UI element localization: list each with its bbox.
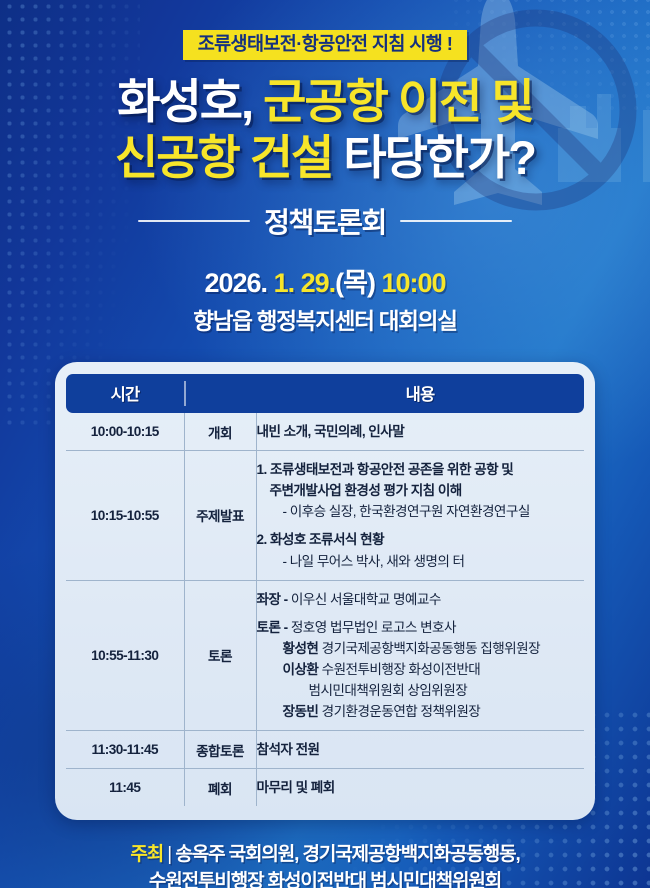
cell-content: 1. 조류생태보전과 항공안전 공존을 위한 공항 및주변개발사업 환경성 평가… xyxy=(256,451,584,580)
content-text: 참석자 전원 xyxy=(257,742,320,757)
content-text: 2. 화성호 조류서식 현황 xyxy=(257,532,385,547)
cell-time: 11:30-11:45 xyxy=(66,730,184,768)
footer-line-2: 수원전투비행장 화성이전반대 범시민대책위원회 xyxy=(0,869,650,888)
poster-header: 조류생태보전·항공안전 지침 시행 ! 화성호, 군공항 이전 및 신공항 건설… xyxy=(0,0,650,336)
title-line2-white: 타당한가? xyxy=(343,131,535,184)
poster-root: 조류생태보전·항공안전 지침 시행 ! 화성호, 군공항 이전 및 신공항 건설… xyxy=(0,0,650,888)
content-line: 황성현 경기국제공항백지화공동행동 집행위원장 xyxy=(257,638,585,659)
schedule-table: 시간 내용 10:00-10:15개회내빈 소개, 국민의례, 인사말10:15… xyxy=(66,374,584,806)
column-header-content: 내용 xyxy=(256,374,584,413)
content-text: 이우신 서울대학교 명예교수 xyxy=(291,592,441,607)
cell-time: 10:00-10:15 xyxy=(66,413,184,451)
footer-separator: | xyxy=(167,844,171,865)
column-header-spacer xyxy=(184,374,256,413)
table-row: 10:15-10:55주제발표1. 조류생태보전과 항공안전 공존을 위한 공항… xyxy=(66,451,584,580)
content-text: 마무리 및 폐회 xyxy=(257,780,335,795)
content-line: 마무리 및 폐회 xyxy=(257,777,585,798)
title-line1-white: 화성호, xyxy=(117,75,252,128)
cell-session-type: 개회 xyxy=(184,413,256,451)
line-spacer xyxy=(257,610,585,617)
column-header-time: 시간 xyxy=(66,374,184,413)
table-row: 10:00-10:15개회내빈 소개, 국민의례, 인사말 xyxy=(66,413,584,451)
content-role-label: 좌장 - xyxy=(257,592,291,607)
cell-session-type: 주제발표 xyxy=(184,451,256,580)
cell-session-type: 폐회 xyxy=(184,769,256,807)
event-venue: 향남읍 행정복지센터 대회의실 xyxy=(0,304,650,336)
table-row: 11:45폐회마무리 및 폐회 xyxy=(66,769,584,807)
content-text: 1. 조류생태보전과 항공안전 공존을 위한 공항 및 xyxy=(257,462,514,477)
content-line: 토론 - 정호영 법무법인 로고스 변호사 xyxy=(257,617,585,638)
page-title: 화성호, 군공항 이전 및 신공항 건설 타당한가? xyxy=(0,74,650,188)
line-spacer xyxy=(257,522,585,529)
cell-content: 참석자 전원 xyxy=(256,730,584,768)
content-line: 내빈 소개, 국민의례, 인사말 xyxy=(257,421,585,442)
event-time: 10:00 xyxy=(381,268,445,298)
table-header-row: 시간 내용 xyxy=(66,374,584,413)
host-label: 주최 xyxy=(130,844,163,865)
content-text: 내빈 소개, 국민의례, 인사말 xyxy=(257,424,405,439)
footer-organizers-1: 송옥주 국회의원, 경기국제공항백지화공동행동, xyxy=(175,844,519,865)
date-monthday: 1. 29. xyxy=(274,268,336,298)
organizer-footer: 주최 | 송옥주 국회의원, 경기국제공항백지화공동행동, 수원전투비행장 화성… xyxy=(0,842,650,888)
schedule-card: 시간 내용 10:00-10:15개회내빈 소개, 국민의례, 인사말10:15… xyxy=(55,362,595,820)
content-line: - 나일 무어스 박사, 새와 생명의 터 xyxy=(257,551,585,572)
content-text: 수원전투비행장 화성이전반대 xyxy=(322,662,481,677)
content-text: - 나일 무어스 박사, 새와 생명의 터 xyxy=(283,554,465,569)
content-text: 경기환경운동연합 정책위원장 xyxy=(322,704,481,719)
cell-time: 10:55-11:30 xyxy=(66,580,184,730)
cell-time: 10:15-10:55 xyxy=(66,451,184,580)
content-line: 참석자 전원 xyxy=(257,739,585,760)
content-line: 범시민대책위원회 상임위원장 xyxy=(257,680,585,701)
title-line2-yellow: 신공항 건설 xyxy=(115,131,332,184)
footer-line-1: 주최 | 송옥주 국회의원, 경기국제공항백지화공동행동, xyxy=(0,842,650,869)
cell-time: 11:45 xyxy=(66,769,184,807)
content-role-label: 토론 - xyxy=(257,620,291,635)
title-line-2: 신공항 건설 타당한가? xyxy=(0,130,650,187)
cell-content: 좌장 - 이우신 서울대학교 명예교수토론 - 정호영 법무법인 로고스 변호사… xyxy=(256,580,584,730)
content-line: 좌장 - 이우신 서울대학교 명예교수 xyxy=(257,589,585,610)
content-line: 1. 조류생태보전과 항공안전 공존을 위한 공항 및 xyxy=(257,459,585,480)
content-line: - 이후승 실장, 한국환경연구원 자연환경연구실 xyxy=(257,501,585,522)
panelist-name: 이상환 xyxy=(283,662,322,677)
table-row: 10:55-11:30토론좌장 - 이우신 서울대학교 명예교수토론 - 정호영… xyxy=(66,580,584,730)
content-text: 주변개발사업 환경성 평가 지침 이해 xyxy=(270,483,462,498)
schedule-table-head: 시간 내용 xyxy=(66,374,584,413)
content-text: 경기국제공항백지화공동행동 집행위원장 xyxy=(322,641,540,656)
rule-right xyxy=(400,220,512,222)
kicker-banner: 조류생태보전·항공안전 지침 시행 ! xyxy=(183,30,468,60)
content-line: 2. 화성호 조류서식 현황 xyxy=(257,529,585,550)
title-line1-yellow: 군공항 이전 및 xyxy=(263,75,533,128)
content-line: 주변개발사업 환경성 평가 지침 이해 xyxy=(257,480,585,501)
date-year: 2026. xyxy=(204,268,267,298)
subtitle: 정책토론회 xyxy=(264,201,386,241)
date-weekday: (목) xyxy=(335,268,375,298)
cell-session-type: 종합토론 xyxy=(184,730,256,768)
event-datetime: 2026. 1. 29.(목) 10:00 xyxy=(0,261,650,300)
cell-content: 마무리 및 폐회 xyxy=(256,769,584,807)
table-row: 11:30-11:45종합토론참석자 전원 xyxy=(66,730,584,768)
panelist-name: 장동빈 xyxy=(283,704,322,719)
content-line: 장동빈 경기환경운동연합 정책위원장 xyxy=(257,701,585,722)
content-text: 정호영 법무법인 로고스 변호사 xyxy=(291,620,456,635)
content-text: 범시민대책위원회 상임위원장 xyxy=(309,683,468,698)
content-line: 이상환 수원전투비행장 화성이전반대 xyxy=(257,659,585,680)
content-text: - 이후승 실장, 한국환경연구원 자연환경연구실 xyxy=(283,504,530,519)
panelist-name: 황성현 xyxy=(283,641,322,656)
rule-left xyxy=(138,220,250,222)
cell-session-type: 토론 xyxy=(184,580,256,730)
title-line-1: 화성호, 군공항 이전 및 xyxy=(0,74,650,131)
subtitle-row: 정책토론회 xyxy=(0,201,650,241)
cell-content: 내빈 소개, 국민의례, 인사말 xyxy=(256,413,584,451)
schedule-table-body: 10:00-10:15개회내빈 소개, 국민의례, 인사말10:15-10:55… xyxy=(66,413,584,806)
